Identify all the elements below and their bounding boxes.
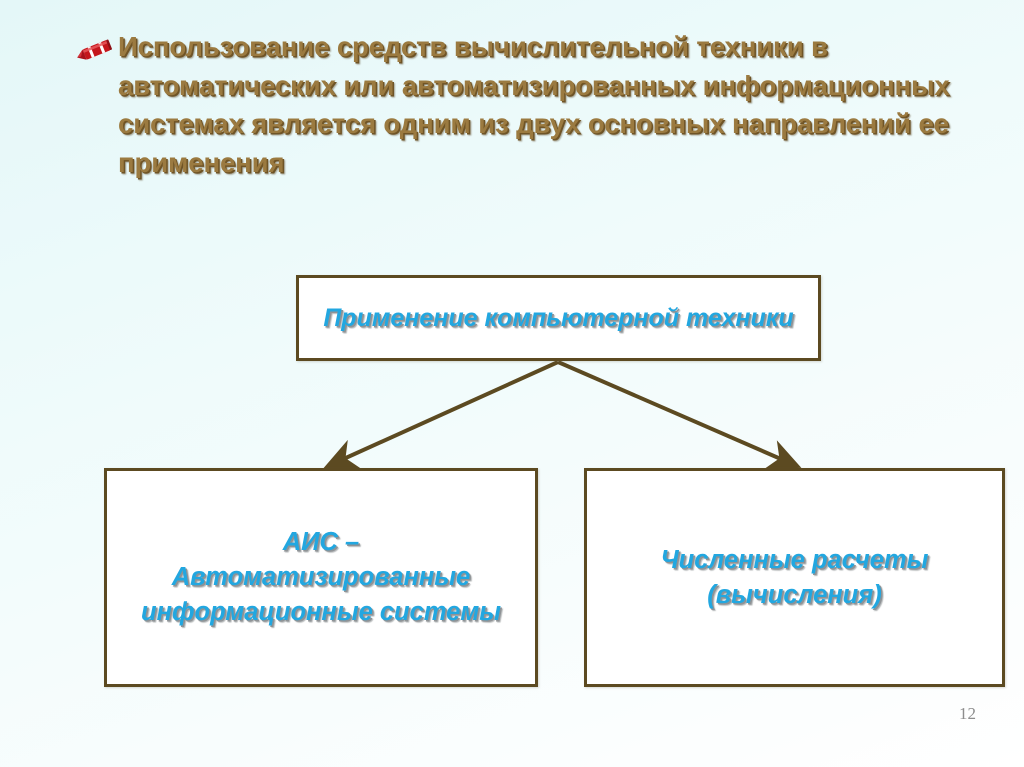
diagram-node-child-right-label: Численные расчеты (вычисления)	[587, 543, 1002, 613]
diagram-node-root[interactable]: Применение компьютерной техники	[296, 275, 821, 361]
presentation-slide: Использование средств вычислительной тех…	[0, 0, 1024, 767]
diagram-node-child-left-label: АИС – Автоматизированные информационные …	[107, 525, 535, 630]
diagram-node-root-label: Применение компьютерной техники	[313, 301, 803, 335]
hierarchy-diagram: Применение компьютерной техники АИС – Ав…	[0, 0, 1024, 767]
page-number: 12	[959, 704, 976, 724]
arrow-root-to-left	[328, 362, 558, 466]
diagram-node-child-left[interactable]: АИС – Автоматизированные информационные …	[104, 468, 538, 687]
diagram-node-child-right[interactable]: Численные расчеты (вычисления)	[584, 468, 1005, 687]
arrow-root-to-right	[558, 362, 797, 466]
